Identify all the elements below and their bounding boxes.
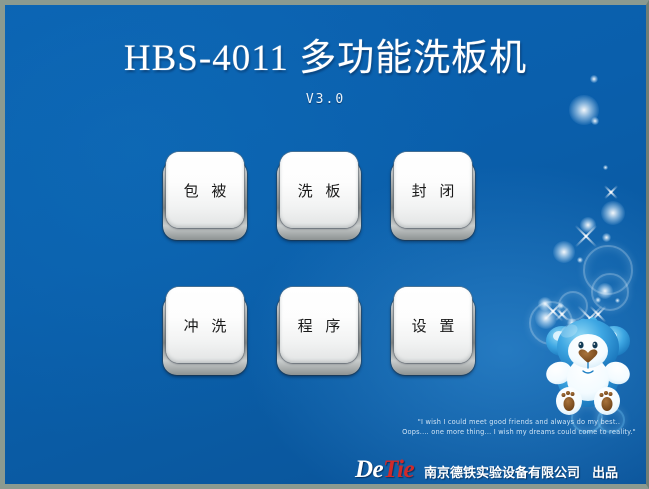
bokeh-orb [580, 217, 596, 233]
bokeh-orb [535, 307, 557, 329]
button-cap: 包 被 [166, 152, 244, 228]
menu-button-blocking[interactable]: 封 闭 [391, 150, 475, 240]
title-block: HBS-4011 多功能洗板机 V3.0 [5, 35, 646, 107]
application-window: HBS-4011 多功能洗板机 V3.0 包 被 洗 板 封 闭 [0, 0, 649, 489]
button-cap: 封 闭 [394, 152, 472, 228]
menu-button-coating[interactable]: 包 被 [163, 150, 247, 240]
teddy-bear-mascot [533, 305, 643, 417]
quote-line-2: Oops.... one more thing... I wish my dre… [397, 427, 641, 437]
sparkle-icon [553, 305, 571, 323]
sparkle-icon [602, 183, 620, 201]
bokeh-orb [567, 318, 577, 328]
bokeh-orb [538, 297, 552, 311]
bokeh-ring [558, 291, 588, 321]
bokeh-ring [591, 273, 629, 311]
quote-line-1: "I wish I could meet good friends and al… [397, 417, 641, 427]
button-cap: 程 序 [280, 287, 358, 363]
sparkle-icon [587, 303, 609, 325]
bokeh-orb [603, 165, 608, 170]
menu-button-settings[interactable]: 设 置 [391, 285, 475, 375]
footer-brand: DeTie 南京德铁实验设备有限公司 出品 [355, 457, 618, 482]
bokeh-orb [597, 283, 613, 299]
main-menu-grid: 包 被 洗 板 封 闭 冲 洗 [163, 150, 483, 380]
bokeh-orb [591, 117, 599, 125]
bokeh-orb [615, 298, 620, 303]
app-background: HBS-4011 多功能洗板机 V3.0 包 被 洗 板 封 闭 [5, 5, 646, 484]
logo-de-text: De [355, 456, 383, 483]
bokeh-orb [558, 303, 564, 309]
menu-button-rinse[interactable]: 冲 洗 [163, 285, 247, 375]
button-cap: 洗 板 [280, 152, 358, 228]
sparkle-icon [539, 297, 567, 325]
company-suffix: 出品 [592, 462, 618, 481]
bokeh-orb [601, 201, 625, 225]
company-name: 南京德铁实验设备有限公司 [424, 462, 580, 481]
menu-button-label: 封 闭 [408, 180, 459, 201]
bokeh-orb [595, 297, 601, 303]
menu-button-label: 程 序 [294, 315, 345, 336]
bokeh-orb [577, 257, 583, 263]
decorative-quote: "I wish I could meet good friends and al… [397, 417, 641, 437]
version-label: V3.0 [5, 92, 646, 107]
menu-button-wash-plate[interactable]: 洗 板 [277, 150, 361, 240]
detie-logo: DeTie [355, 457, 414, 482]
button-cap: 设 置 [394, 287, 472, 363]
logo-tie-text: Tie [383, 456, 414, 483]
page-title: HBS-4011 多功能洗板机 [5, 35, 646, 83]
bokeh-ring [583, 245, 633, 295]
sparkle-icon [571, 221, 601, 251]
bokeh-orb [553, 241, 575, 263]
menu-button-label: 冲 洗 [180, 315, 231, 336]
sparkle-icon [573, 301, 607, 335]
menu-button-label: 包 被 [180, 180, 231, 201]
menu-button-label: 洗 板 [294, 180, 345, 201]
menu-button-program[interactable]: 程 序 [277, 285, 361, 375]
button-cap: 冲 洗 [166, 287, 244, 363]
bokeh-ring [529, 301, 573, 345]
bokeh-orb [602, 233, 611, 242]
menu-button-label: 设 置 [408, 315, 459, 336]
